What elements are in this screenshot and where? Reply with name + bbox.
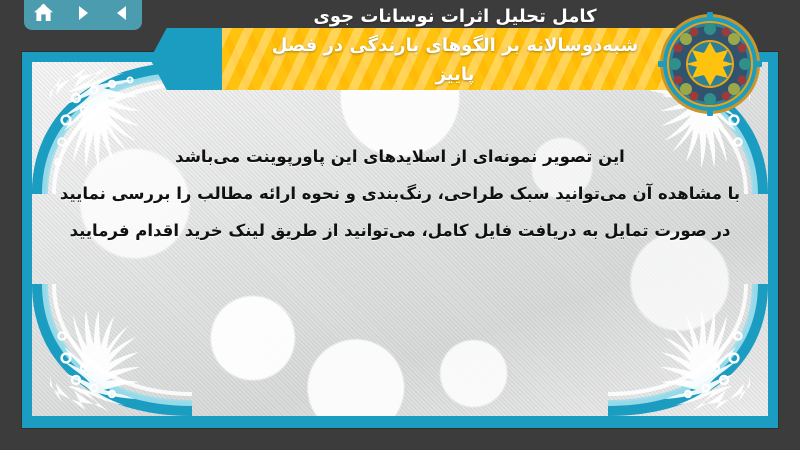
circular-mandala-medallion <box>658 12 762 116</box>
title-line-1: کامل تحلیل اثرات نوسانات جوی <box>215 2 695 31</box>
body-line-2: با مشاهده آن می‌توانید سبک طراحی، رنگ‌بن… <box>32 175 768 212</box>
body-line-3: در صورت تمایل به دریافت فایل کامل، می‌تو… <box>32 212 768 249</box>
next-arrow-icon <box>74 4 92 22</box>
navigation-bar <box>24 0 142 30</box>
body-line-1: این تصویر نمونه‌ای از اسلایدهای این پاور… <box>32 138 768 175</box>
arabesque-corner-ornament <box>32 284 192 416</box>
previous-slide-button[interactable] <box>107 1 137 25</box>
arabesque-corner-ornament <box>608 284 768 416</box>
home-button[interactable] <box>29 1 59 25</box>
previous-arrow-icon <box>113 4 131 22</box>
home-icon <box>33 3 54 23</box>
next-slide-button[interactable] <box>68 1 98 25</box>
slide-body-text: این تصویر نمونه‌ای از اسلایدهای این پاور… <box>32 138 768 249</box>
slide-viewer: کامل تحلیل اثرات نوسانات جوی شبه‌دوسالان… <box>0 0 800 450</box>
